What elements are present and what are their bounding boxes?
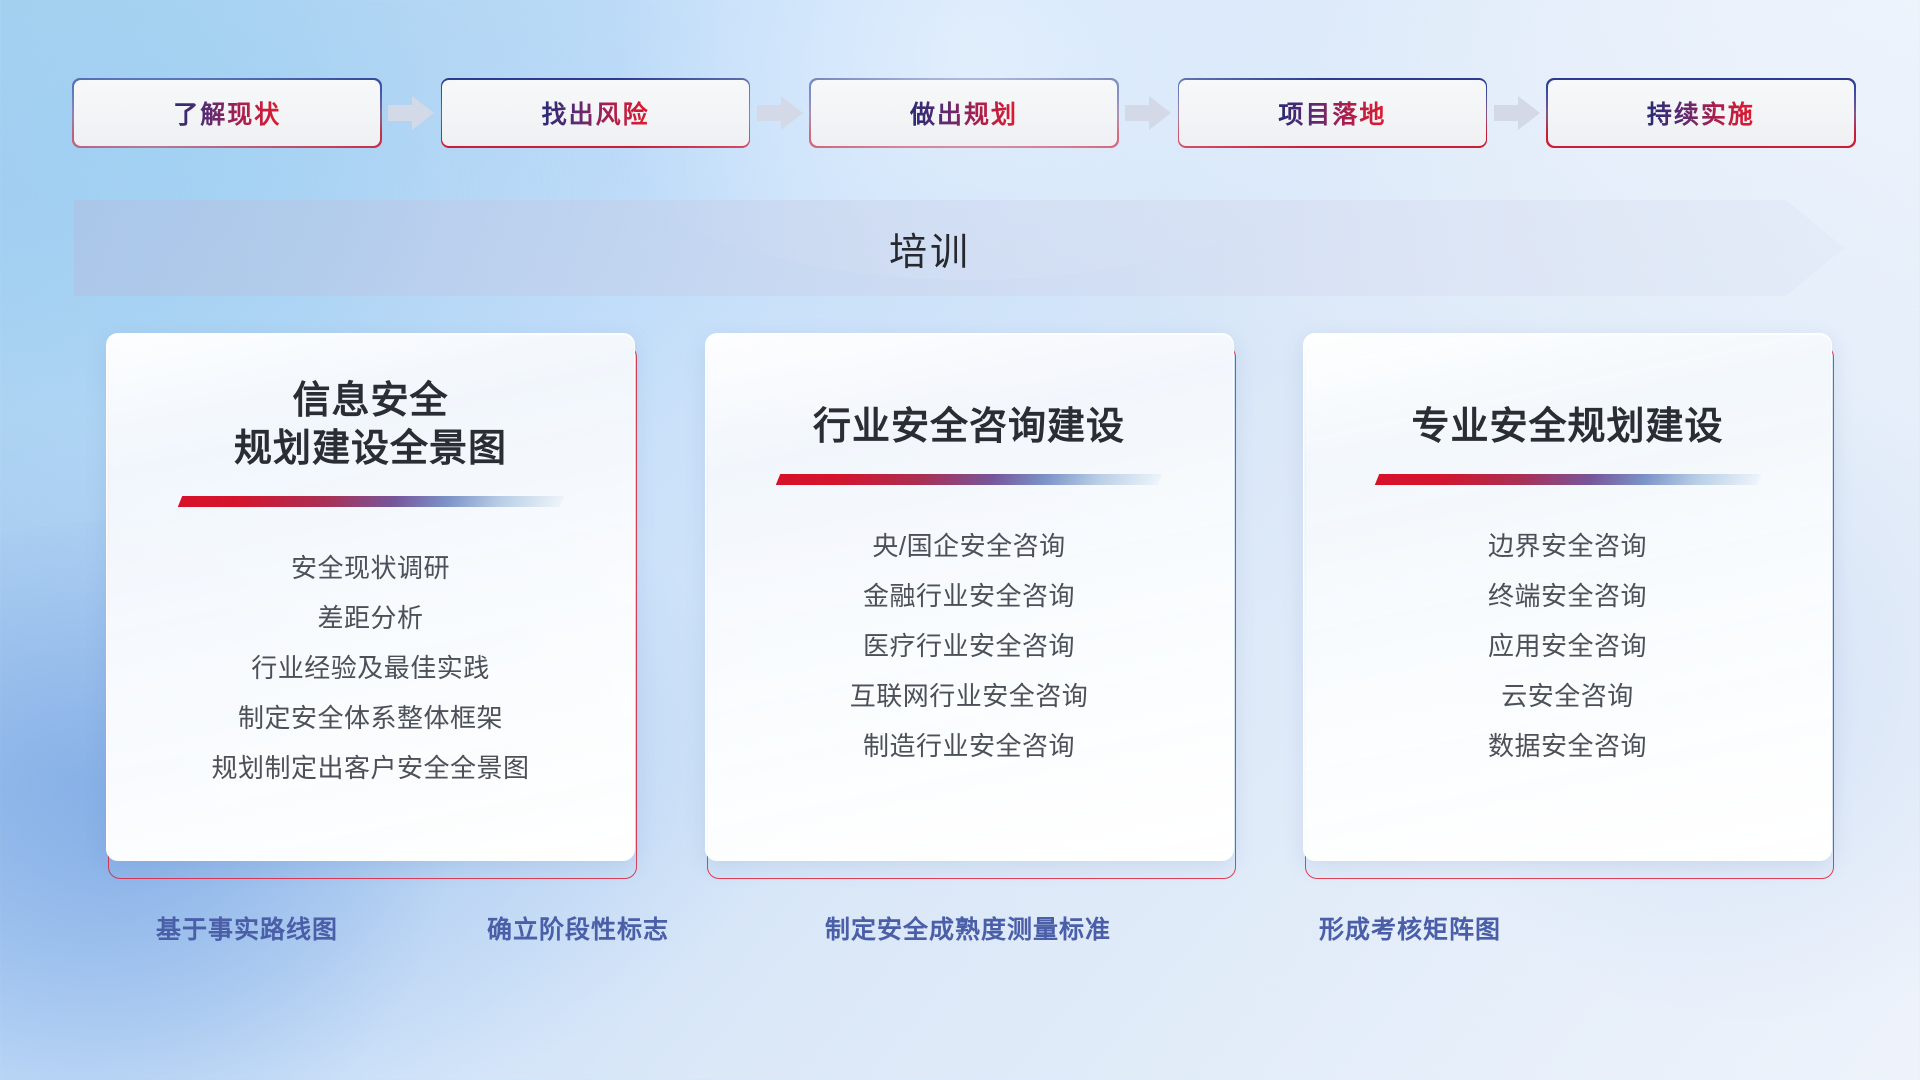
list-item: 数据安全咨询 — [1488, 721, 1647, 771]
step-box-3[interactable]: 做出规划 — [811, 80, 1117, 146]
list-item: 央/国企安全咨询 — [872, 521, 1065, 571]
card-2[interactable]: 行业安全咨询建设 央/国企安全咨询 金融行业安全咨询 医疗行业安全咨询 互联网行… — [705, 333, 1234, 861]
step-label-3: 做出规划 — [910, 95, 1018, 131]
list-item: 云安全咨询 — [1501, 671, 1634, 721]
footnote-row: 基于事实路线图 确立阶段性标志 制定安全成熟度测量标准 形成考核矩阵图 — [0, 910, 1920, 954]
step-label-1: 了解现状 — [173, 95, 281, 131]
card-wrap-2: 行业安全咨询建设 央/国企安全咨询 金融行业安全咨询 医疗行业安全咨询 互联网行… — [705, 333, 1238, 873]
step-arrow-icon-3 — [1117, 93, 1179, 133]
list-item: 制定安全体系整体框架 — [238, 693, 503, 743]
step-box-4[interactable]: 项目落地 — [1179, 80, 1485, 146]
card-divider-wrap-3 — [1304, 452, 1831, 485]
card-divider-2 — [776, 474, 1162, 485]
list-item: 应用安全咨询 — [1488, 621, 1647, 671]
list-item: 互联网行业安全咨询 — [850, 671, 1089, 721]
step-arrow-icon-2 — [749, 93, 811, 133]
step-arrow-icon-1 — [380, 93, 442, 133]
list-item: 安全现状调研 — [291, 543, 450, 593]
step-box-5[interactable]: 持续实施 — [1548, 80, 1854, 146]
footnote-3: 制定安全成熟度测量标准 — [825, 910, 1111, 946]
card-divider-1 — [177, 496, 563, 507]
list-item: 边界安全咨询 — [1488, 521, 1647, 571]
footnote-4: 形成考核矩阵图 — [1319, 910, 1501, 946]
step-box-1[interactable]: 了解现状 — [74, 80, 380, 146]
card-wrap-1: 信息安全 规划建设全景图 安全现状调研 差距分析 行业经验及最佳实践 制定安全体… — [106, 333, 639, 873]
step-arrow-icon-4 — [1486, 93, 1548, 133]
card-divider-wrap-2 — [706, 452, 1233, 485]
card-title-1: 信息安全 规划建设全景图 — [107, 378, 634, 474]
card-group: 信息安全 规划建设全景图 安全现状调研 差距分析 行业经验及最佳实践 制定安全体… — [106, 333, 1836, 873]
list-item: 终端安全咨询 — [1488, 571, 1647, 621]
card-list-3: 边界安全咨询 终端安全咨询 应用安全咨询 云安全咨询 数据安全咨询 — [1304, 521, 1831, 771]
step-label-5: 持续实施 — [1647, 95, 1755, 131]
card-3[interactable]: 专业安全规划建设 边界安全咨询 终端安全咨询 应用安全咨询 云安全咨询 数据安全… — [1303, 333, 1832, 861]
step-box-2[interactable]: 找出风险 — [442, 80, 748, 146]
list-item: 金融行业安全咨询 — [863, 571, 1075, 621]
card-1[interactable]: 信息安全 规划建设全景图 安全现状调研 差距分析 行业经验及最佳实践 制定安全体… — [106, 333, 635, 861]
card-list-2: 央/国企安全咨询 金融行业安全咨询 医疗行业安全咨询 互联网行业安全咨询 制造行… — [706, 521, 1233, 771]
footnote-1: 基于事实路线图 — [156, 910, 338, 946]
list-item: 规划制定出客户安全全景图 — [211, 743, 529, 793]
list-item: 制造行业安全咨询 — [863, 721, 1075, 771]
card-title-3: 专业安全规划建设 — [1304, 404, 1831, 452]
list-item: 医疗行业安全咨询 — [863, 621, 1075, 671]
card-divider-3 — [1374, 474, 1760, 485]
list-item: 差距分析 — [317, 593, 423, 643]
card-title-2: 行业安全咨询建设 — [706, 404, 1233, 452]
footnote-2: 确立阶段性标志 — [487, 910, 669, 946]
card-divider-wrap-1 — [107, 474, 634, 507]
step-label-2: 找出风险 — [542, 95, 650, 131]
training-band: 培训 — [74, 200, 1844, 296]
step-label-4: 项目落地 — [1278, 95, 1386, 131]
list-item: 行业经验及最佳实践 — [251, 643, 490, 693]
card-wrap-3: 专业安全规划建设 边界安全咨询 终端安全咨询 应用安全咨询 云安全咨询 数据安全… — [1303, 333, 1836, 873]
card-list-1: 安全现状调研 差距分析 行业经验及最佳实践 制定安全体系整体框架 规划制定出客户… — [107, 543, 634, 793]
training-band-label: 培训 — [74, 200, 1844, 296]
process-step-flow: 了解现状 找出风险 做出规划 项目落地 持续实施 — [74, 80, 1854, 146]
